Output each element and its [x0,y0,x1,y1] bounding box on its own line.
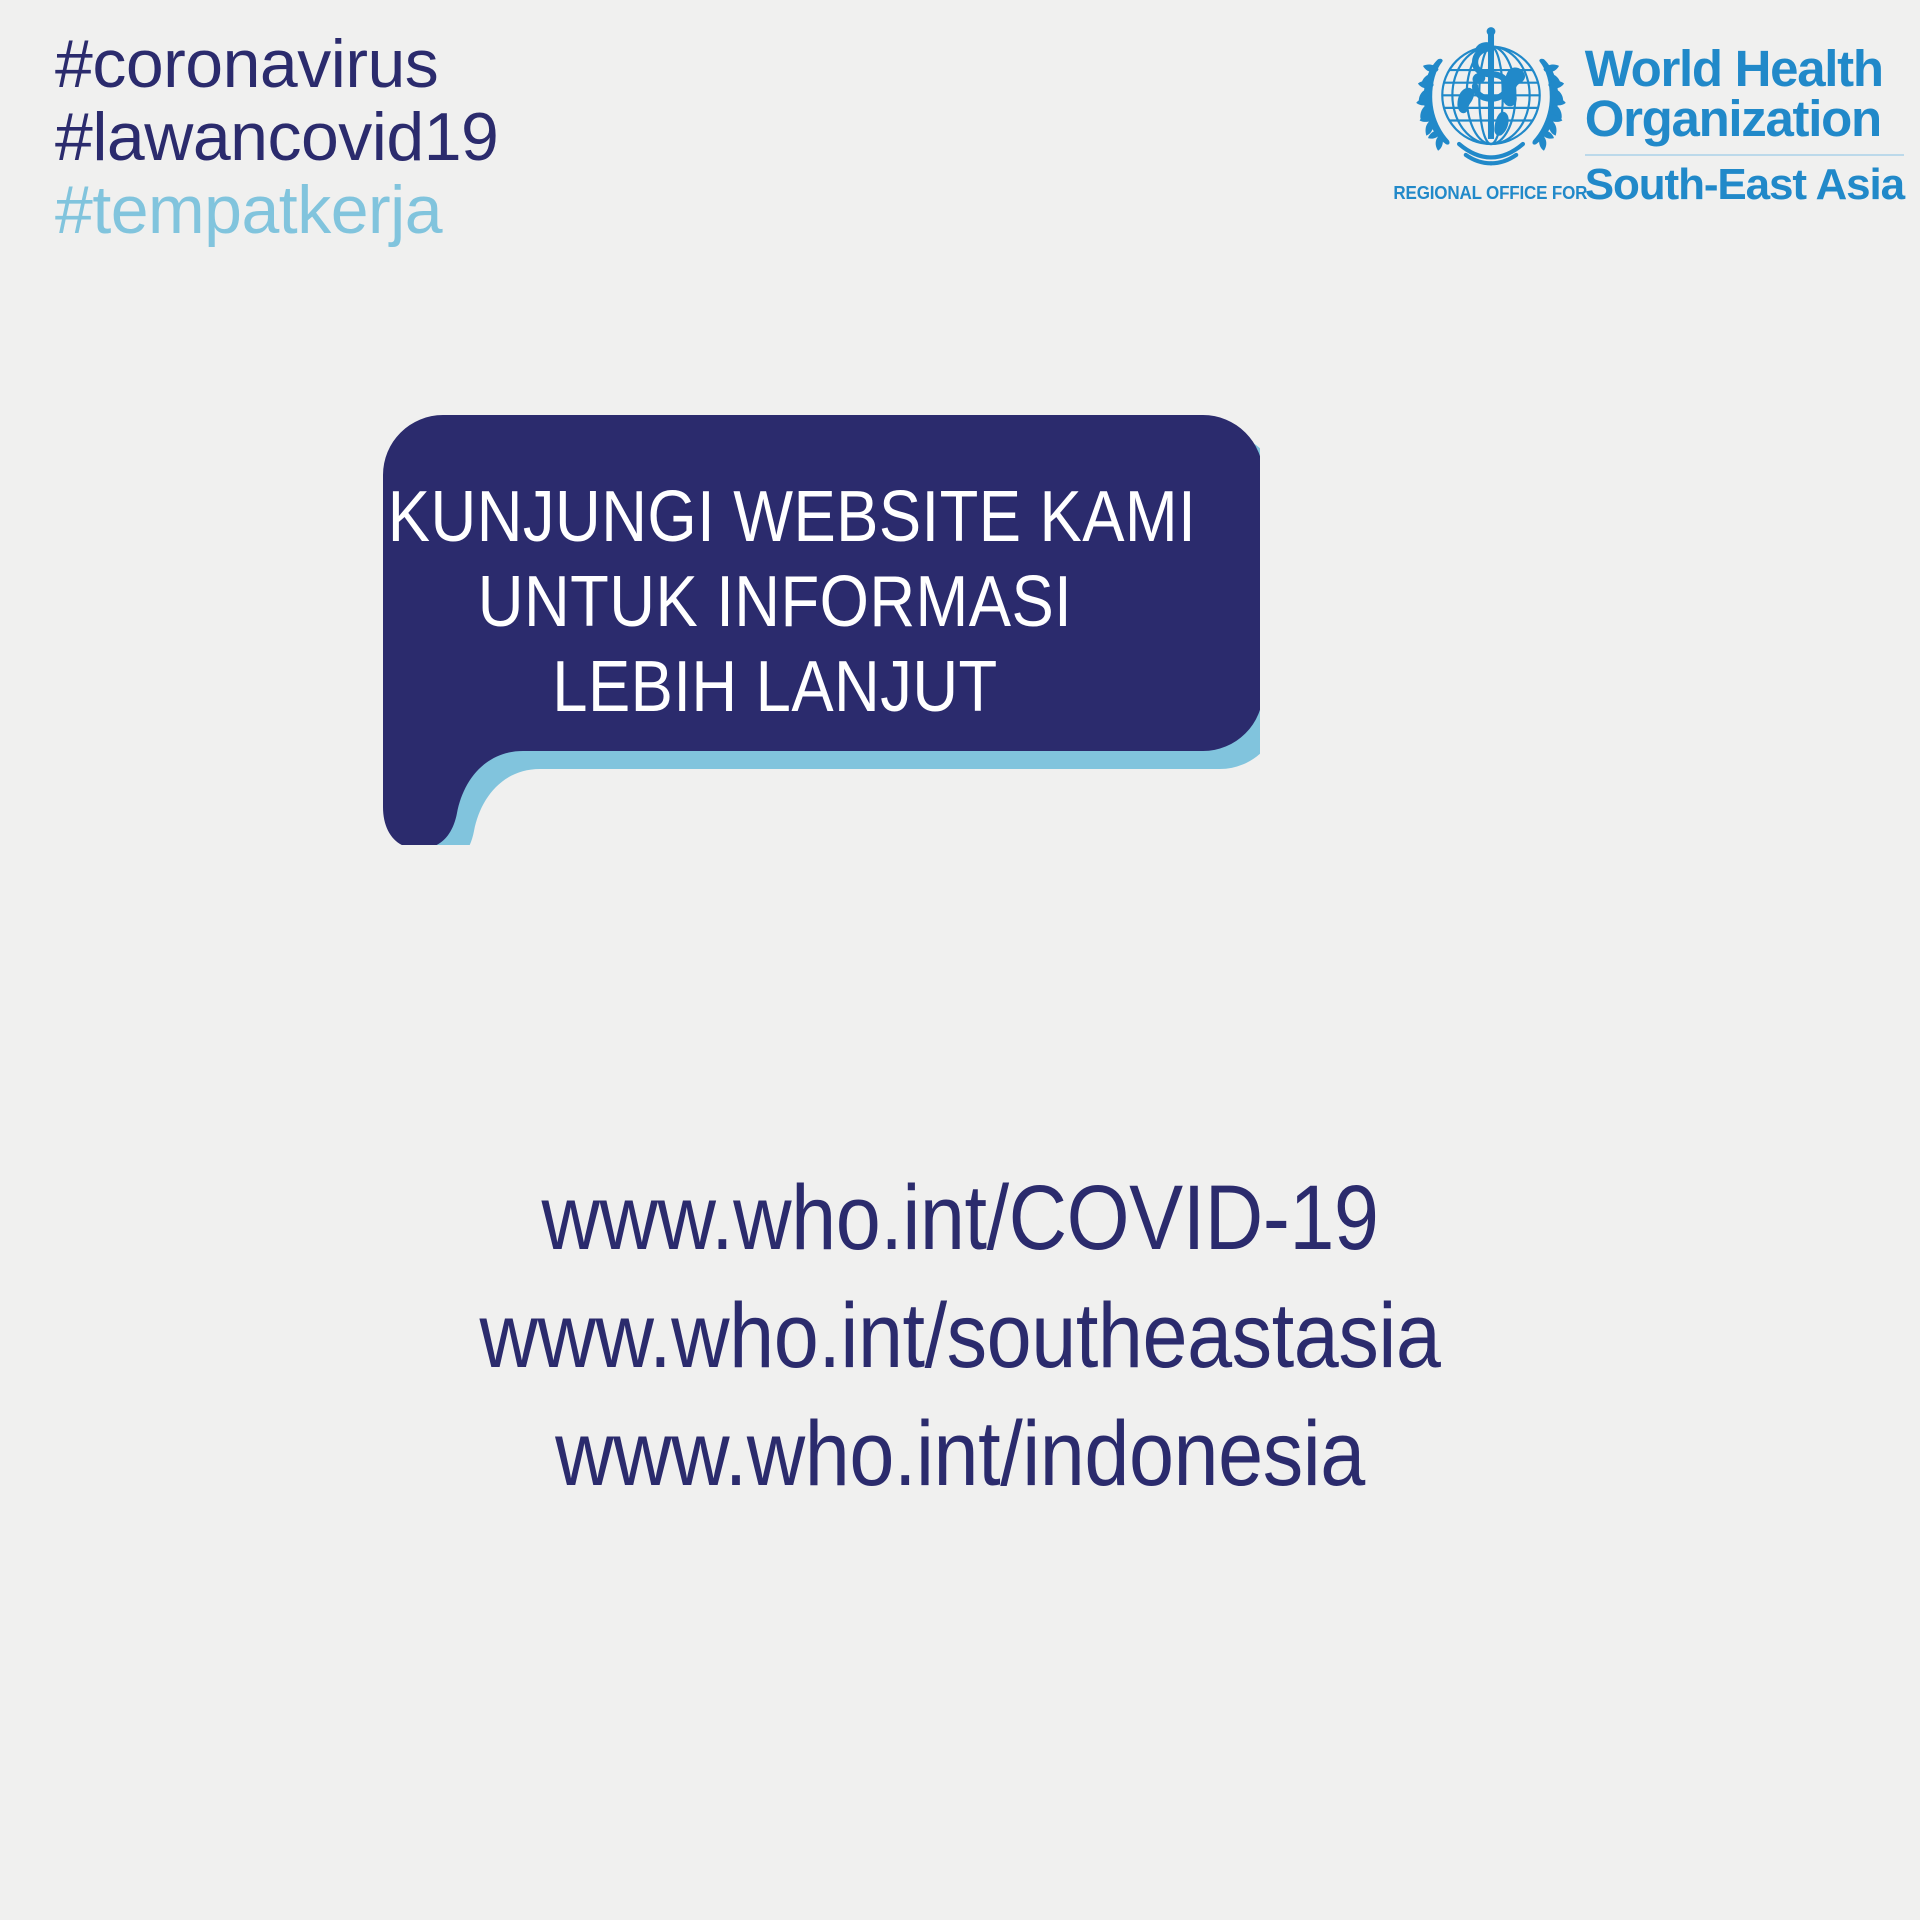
who-emblem-wrap: REGIONAL OFFICE FOR [1405,18,1577,204]
url-covid19[interactable]: www.who.int/COVID-19 [115,1160,1805,1278]
hashtag-group: #coronavirus #lawancovid19 #tempatkerja [55,28,498,246]
speech-bubble: KUNJUNGI WEBSITE KAMI UNTUK INFORMASI LE… [335,405,1260,845]
logo-divider [1585,154,1904,156]
hashtag-coronavirus: #coronavirus [55,28,498,101]
bubble-line-2: UNTUK INFORMASI [388,560,1162,645]
bubble-line-1: KUNJUNGI WEBSITE KAMI [388,475,1162,560]
hashtag-tempatkerja: #tempatkerja [55,174,498,247]
who-region-name: South-East Asia [1585,163,1904,207]
url-southeastasia[interactable]: www.who.int/southeastasia [115,1278,1805,1396]
poster-canvas: #coronavirus #lawancovid19 #tempatkerja [0,0,1920,1920]
speech-bubble-text: KUNJUNGI WEBSITE KAMI UNTUK INFORMASI LE… [335,475,1215,730]
who-logo: REGIONAL OFFICE FOR World Health Organiz… [1405,18,1904,207]
regional-office-label: REGIONAL OFFICE FOR [1394,182,1588,204]
bubble-line-3: LEBIH LANJUT [388,645,1162,730]
who-name-line-2: Organization [1585,94,1904,144]
url-list: www.who.int/COVID-19 www.who.int/southea… [0,1160,1920,1513]
who-wordmark: World Health Organization South-East Asi… [1585,18,1904,207]
who-name-line-1: World Health [1585,44,1904,94]
who-emblem-icon [1407,18,1575,186]
hashtag-lawancovid19: #lawancovid19 [55,101,498,174]
url-indonesia[interactable]: www.who.int/indonesia [115,1396,1805,1514]
